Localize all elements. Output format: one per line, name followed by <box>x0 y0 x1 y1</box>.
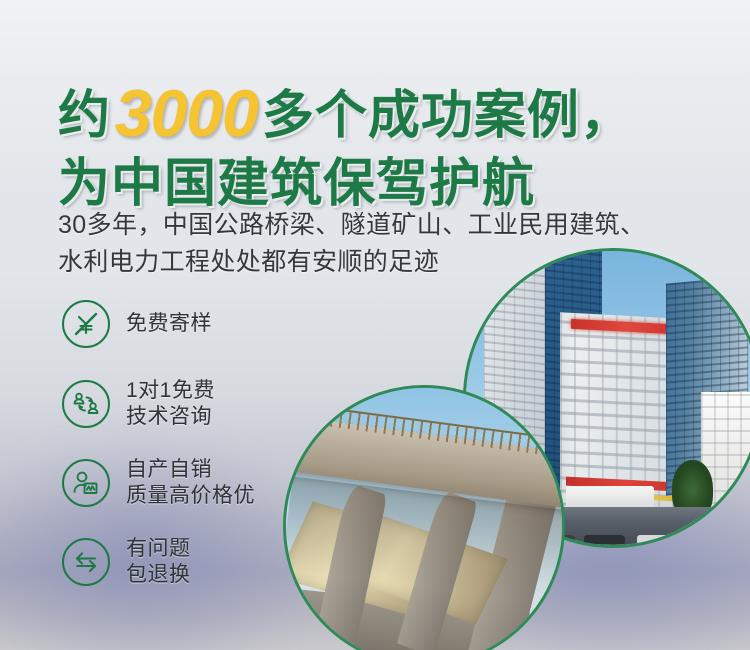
feature-line: 有问题 <box>126 536 191 562</box>
feature-line: 免费寄样 <box>126 311 212 337</box>
feature-text: 自产自销 质量高价格优 <box>126 457 255 510</box>
free-sample-icon <box>62 300 110 348</box>
subcopy-line-1: 30多年，中国公路桥梁、隧道矿山、工业民用建筑、 <box>58 207 718 244</box>
feature-item-return-exchange[interactable]: 有问题 包退换 <box>62 536 255 589</box>
headline-line-1: 约3000多个成功案例， <box>58 80 718 146</box>
return-exchange-icon <box>62 538 110 586</box>
feature-text: 有问题 包退换 <box>126 536 191 589</box>
feature-line: 包退换 <box>126 562 191 588</box>
self-produce-sell-icon <box>62 459 110 507</box>
feature-line: 质量高价格优 <box>126 483 255 509</box>
feature-item-self-produce[interactable]: 自产自销 质量高价格优 <box>62 457 255 510</box>
feature-item-consult[interactable]: 1对1免费 技术咨询 <box>62 378 255 431</box>
feature-list: 免费寄样 1对1免费 技术咨询 <box>62 300 255 611</box>
parked-car <box>681 535 716 543</box>
one-on-one-consult-icon <box>62 380 110 428</box>
headline-prefix: 约 <box>58 87 111 145</box>
feature-item-free-sample[interactable]: 免费寄样 <box>62 300 255 348</box>
feature-text: 免费寄样 <box>126 311 212 337</box>
feature-line: 1对1免费 <box>126 378 215 404</box>
parked-car <box>584 535 625 543</box>
headline-line-2-text: 为中国建筑保驾护航 <box>58 155 535 213</box>
headline-number: 3000 <box>111 76 262 150</box>
parked-car <box>637 535 669 543</box>
headline: 约3000多个成功案例， 为中国建筑保驾护航 <box>58 80 718 210</box>
feature-text: 1对1免费 技术咨询 <box>126 378 215 431</box>
promo-banner: 约3000多个成功案例， 为中国建筑保驾护航 30多年，中国公路桥梁、隧道矿山、… <box>0 0 750 650</box>
bridge-photo-scene <box>286 388 562 650</box>
feature-line: 技术咨询 <box>126 404 215 430</box>
feature-line: 自产自销 <box>126 457 255 483</box>
headline-line-2: 为中国建筑保驾护航 <box>58 158 718 210</box>
headline-suffix: 多个成功案例， <box>262 87 633 145</box>
bridge-photo <box>283 385 565 650</box>
